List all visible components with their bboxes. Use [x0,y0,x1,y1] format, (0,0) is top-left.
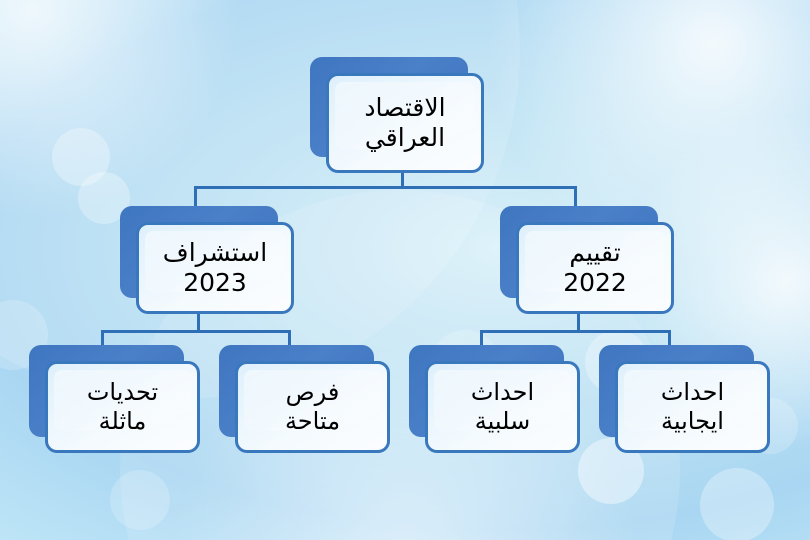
node-label: تحديات ماثلة [81,378,164,437]
node-front-panel: احداث ايجابية [615,361,770,453]
background-bubble [110,470,170,530]
node-front-panel: الاقتصاد العراقي [326,73,484,173]
node-evaluation-2022[interactable]: تقييم 2022 [500,206,658,298]
node-label: تقييم 2022 [557,238,633,299]
node-iraqi-economy[interactable]: الاقتصاد العراقي [310,57,468,157]
connector-level2-bar [194,186,408,189]
connector-root-stem [401,172,404,188]
connector-foresight-stem [197,314,200,332]
node-existing-challenges[interactable]: تحديات ماثلة [29,345,184,437]
connector-level2-bar-right [401,186,577,189]
node-label: احداث ايجابية [655,378,730,437]
connector-left-branch-bar-right [197,330,291,333]
node-front-panel: استشراف 2023 [136,222,294,314]
node-label: الاقتصاد العراقي [358,93,451,154]
connector-right-branch-bar [480,330,580,333]
node-label: فرص متاحة [279,378,346,437]
node-front-panel: احداث سلبية [425,361,580,453]
background-bubble [52,128,110,186]
node-front-panel: فرص متاحة [235,361,390,453]
node-foresight-2023[interactable]: استشراف 2023 [120,206,278,298]
node-label: استشراف 2023 [157,238,273,299]
node-negative-events[interactable]: احداث سلبية [409,345,564,437]
node-positive-events[interactable]: احداث ايجابية [599,345,754,437]
node-label: احداث سلبية [465,378,540,437]
node-available-opportunities[interactable]: فرص متاحة [219,345,374,437]
connector-right-branch-bar-right [577,330,671,333]
node-front-panel: تحديات ماثلة [45,361,200,453]
node-front-panel: تقييم 2022 [516,222,674,314]
background-bubble [700,468,774,540]
diagram-canvas: الاقتصاد العراقي استشراف 2023 تقييم 2022… [0,0,810,540]
connector-evaluation-stem [577,314,580,332]
connector-left-branch-bar [101,330,200,333]
